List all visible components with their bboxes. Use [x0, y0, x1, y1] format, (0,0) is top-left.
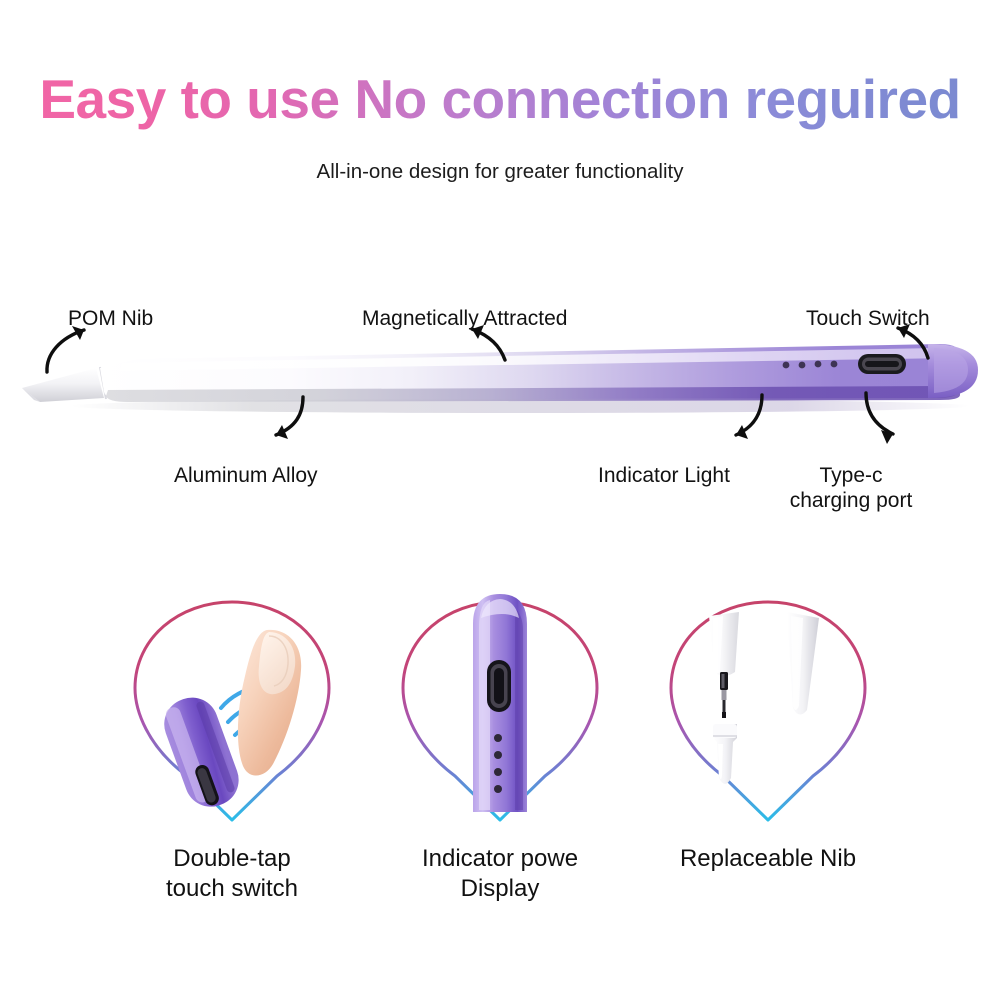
callout-label-type-c-charging-port: Type-c charging port: [746, 463, 956, 513]
page-headline: Easy to use No connection reguired: [0, 68, 1000, 130]
callout-label-magnetically-attracted: Magnetically Attracted: [362, 306, 567, 331]
callout-label-touch-switch: Touch Switch: [806, 306, 930, 331]
callout-label-pom-nib: POM Nib: [68, 306, 153, 331]
usb-c-port: [487, 660, 511, 712]
pen-tail-graphic: [473, 594, 527, 812]
usb-c-port: [858, 354, 906, 374]
pen-diagram: POM Nib Magnetically Attracted Touch Swi…: [0, 280, 1000, 530]
feature-art-replaceable-nib: [653, 588, 883, 828]
feature-double-tap: Double-tap touch switch: [107, 588, 357, 904]
finger-graphic: [238, 630, 301, 776]
callout-label-indicator-light: Indicator Light: [598, 463, 730, 488]
feature-indicator-power: Indicator powe Display: [375, 588, 625, 904]
feature-panels: Double-tap touch switch: [0, 588, 1000, 948]
callout-label-aluminum-alloy: Aluminum Alloy: [174, 463, 318, 488]
feature-art-indicator-power: [385, 588, 615, 828]
page-subtitle: All-in-one design for greater functional…: [0, 159, 1000, 185]
feature-caption-double-tap: Double-tap touch switch: [166, 844, 298, 904]
feature-replaceable-nib: Replaceable Nib: [643, 588, 893, 874]
feature-caption-replaceable-nib: Replaceable Nib: [680, 844, 856, 874]
pen-tail-graphic: [157, 690, 246, 814]
metal-shaft: [720, 672, 728, 718]
feature-art-double-tap: [117, 588, 347, 828]
pen-body-with-shaft: [709, 612, 739, 718]
detached-nib: [713, 724, 737, 784]
feature-caption-indicator-power: Indicator powe Display: [422, 844, 578, 904]
teardrop-outline: [671, 602, 865, 820]
